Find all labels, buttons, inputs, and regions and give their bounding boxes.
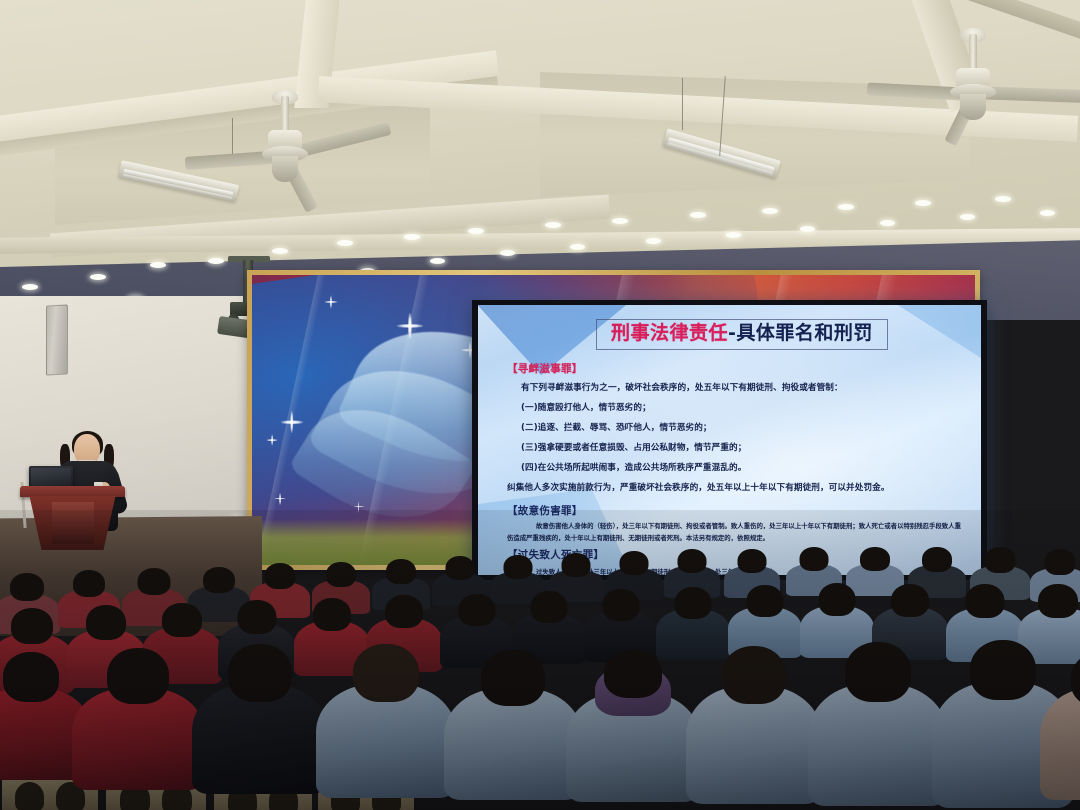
wall-speaker <box>46 304 68 375</box>
slide-body-line: 纠集他人多次实施前款行为，严重破坏社会秩序的，处五年以上十年以下有期徒刑，可以并… <box>507 481 890 493</box>
recessed-downlight <box>800 226 815 232</box>
student-hair <box>1038 584 1078 618</box>
recessed-downlight <box>468 228 484 234</box>
slide-title-dark: -具体罪名和刑罚 <box>728 322 873 344</box>
student-hair <box>985 547 1016 573</box>
fan-rod <box>281 96 289 134</box>
audience <box>0 510 1080 810</box>
backdrop-star <box>397 313 423 339</box>
student-body <box>808 684 948 806</box>
slide-body-line: (一)随意殴打他人，情节恶劣的； <box>521 401 651 413</box>
slide-body-line: (四)在公共场所起哄闹事，造成公共场所秩序严重混乱的。 <box>521 461 746 473</box>
student-hair <box>722 646 786 704</box>
slide-body-line: 有下列寻衅滋事行为之一，破坏社会秩序的，处五年以下有期徒刑、拘役或者管制： <box>521 381 843 393</box>
recessed-downlight <box>915 200 931 206</box>
student <box>444 640 582 800</box>
tube-hanger-wire-right-a <box>682 78 683 130</box>
student-hair <box>747 585 784 617</box>
student-hair <box>922 547 952 572</box>
student-hair <box>11 608 53 644</box>
student-hair <box>386 559 416 584</box>
student-hair <box>162 603 202 637</box>
student-hair <box>203 567 235 593</box>
student-hair <box>3 652 59 702</box>
student <box>316 634 456 798</box>
student <box>686 636 822 804</box>
slide-title-box: 刑事法律责任-具体罪名和刑罚 <box>596 319 888 350</box>
student <box>566 644 700 802</box>
slide-title: 刑事法律责任-具体罪名和刑罚 <box>611 323 873 344</box>
recessed-downlight <box>880 220 895 226</box>
recessed-downlight <box>570 244 585 250</box>
student-hair <box>459 594 496 626</box>
recessed-downlight <box>430 258 445 264</box>
student-hair <box>228 644 292 702</box>
student-hair <box>675 587 712 619</box>
recessed-downlight <box>690 212 706 218</box>
backdrop-star <box>281 411 303 433</box>
backdrop-star <box>266 435 277 446</box>
recessed-downlight <box>612 218 628 224</box>
student-hair <box>1045 549 1076 575</box>
student-hair <box>446 556 475 580</box>
student-hair <box>819 583 856 616</box>
recessed-downlight <box>960 214 975 220</box>
recessed-downlight <box>762 208 778 214</box>
ceiling-fan-left <box>280 96 290 106</box>
ceiling-fan-right <box>968 34 978 44</box>
student-hair <box>604 650 662 698</box>
student-hair <box>603 589 640 621</box>
recessed-downlight <box>995 196 1011 202</box>
student <box>808 634 948 806</box>
backdrop-star <box>274 493 286 505</box>
student-hair <box>10 573 44 601</box>
recessed-downlight <box>22 284 38 290</box>
podium-top <box>20 486 125 497</box>
student-hair <box>265 563 296 589</box>
student-hair <box>353 644 419 702</box>
student-hair <box>966 584 1005 618</box>
student-hair <box>738 549 767 573</box>
slide-body-line: (三)强拿硬要或者任意损毁、占用公私财物，情节严重的； <box>521 441 746 453</box>
recessed-downlight <box>404 234 420 240</box>
recessed-downlight <box>272 248 288 254</box>
recessed-downlight <box>337 240 353 246</box>
student <box>192 634 328 794</box>
student-hair <box>313 598 351 631</box>
student-hair <box>481 650 545 706</box>
student-hair <box>620 551 649 575</box>
fan-cap <box>272 156 298 182</box>
recessed-downlight <box>90 274 106 280</box>
recessed-downlight <box>500 250 515 256</box>
student-hair <box>326 562 356 587</box>
student-hair <box>562 553 591 577</box>
recessed-downlight <box>545 222 561 228</box>
student-hair <box>504 555 533 579</box>
slide-section-heading-1: 【寻衅滋事罪】 <box>507 361 583 376</box>
recessed-downlight <box>208 258 224 264</box>
student-hair <box>845 642 911 702</box>
student-hair <box>86 605 126 640</box>
recessed-downlight <box>646 238 661 244</box>
slide-title-red: 刑事法律责任 <box>611 322 728 344</box>
student-hair <box>385 595 423 628</box>
fan-cap <box>960 94 986 120</box>
student <box>1040 640 1080 800</box>
student-hair <box>970 640 1036 700</box>
fan-rod <box>969 34 977 72</box>
backdrop-star <box>324 295 337 308</box>
student-hair <box>678 549 707 573</box>
lecture-hall-photo: 刑事法律责任-具体罪名和刑罚 【寻衅滋事罪】 有下列寻衅滋事行为之一，破坏社会秩… <box>0 0 1080 810</box>
student-hair <box>238 600 277 634</box>
recessed-downlight <box>150 262 166 268</box>
recessed-downlight <box>838 204 854 210</box>
student-hair <box>138 568 171 595</box>
student-hair <box>891 584 929 617</box>
student-hair <box>800 547 829 571</box>
recessed-downlight <box>726 232 741 238</box>
student-hair <box>107 648 169 704</box>
slide-body-line: (二)追逐、拦截、辱骂、恐吓他人，情节恶劣的； <box>521 421 712 433</box>
student-body <box>1040 688 1080 800</box>
student <box>72 640 204 790</box>
student-hair <box>73 570 105 597</box>
student-hair <box>531 591 568 623</box>
recessed-downlight <box>1040 210 1055 216</box>
laptop-screen <box>31 468 71 487</box>
student-hair <box>860 547 890 571</box>
